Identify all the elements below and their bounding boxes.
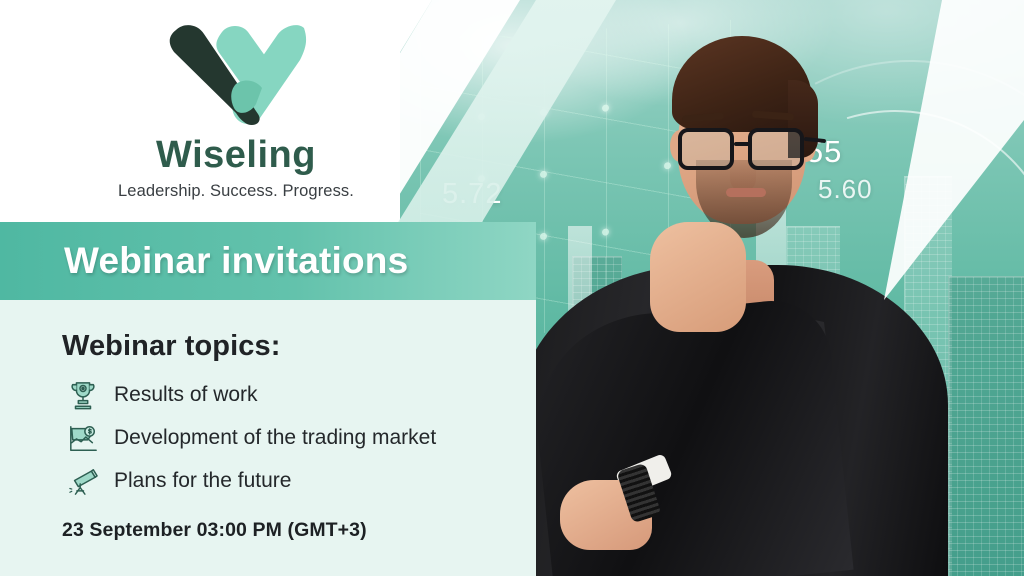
brand-name: Wiseling [86, 134, 386, 177]
topic-item-1: Development of the trading market [62, 418, 532, 458]
topics-list: Webinar topics: Results of wor [62, 330, 532, 504]
topic-label-0: Results of work [114, 383, 258, 407]
webinar-invitation-slide: 5.72 5.55 5.60 [0, 0, 1024, 576]
businessman-photo [500, 10, 970, 576]
brand-logo-block: Wiseling Leadership. Success. Progress. [86, 22, 386, 201]
wiseling-v-logo-icon [156, 22, 316, 130]
money-chart-icon [62, 421, 104, 455]
banner-title: Webinar invitations [64, 240, 408, 282]
topic-label-2: Plans for the future [114, 469, 291, 493]
glasses-bridge [734, 142, 752, 146]
eyeglasses [676, 128, 812, 174]
telescope-icon [62, 464, 104, 498]
lens-right [748, 128, 804, 170]
topic-item-0: Results of work [62, 375, 532, 415]
lips [726, 188, 766, 197]
trophy-icon [62, 378, 104, 412]
topic-label-1: Development of the trading market [114, 426, 436, 450]
topic-item-2: Plans for the future [62, 461, 532, 501]
fist-on-chin [650, 222, 746, 332]
event-datetime: 23 September 03:00 PM (GMT+3) [62, 519, 367, 542]
brand-tagline: Leadership. Success. Progress. [86, 182, 386, 201]
lens-left [678, 128, 734, 170]
topics-heading: Webinar topics: [62, 330, 532, 363]
